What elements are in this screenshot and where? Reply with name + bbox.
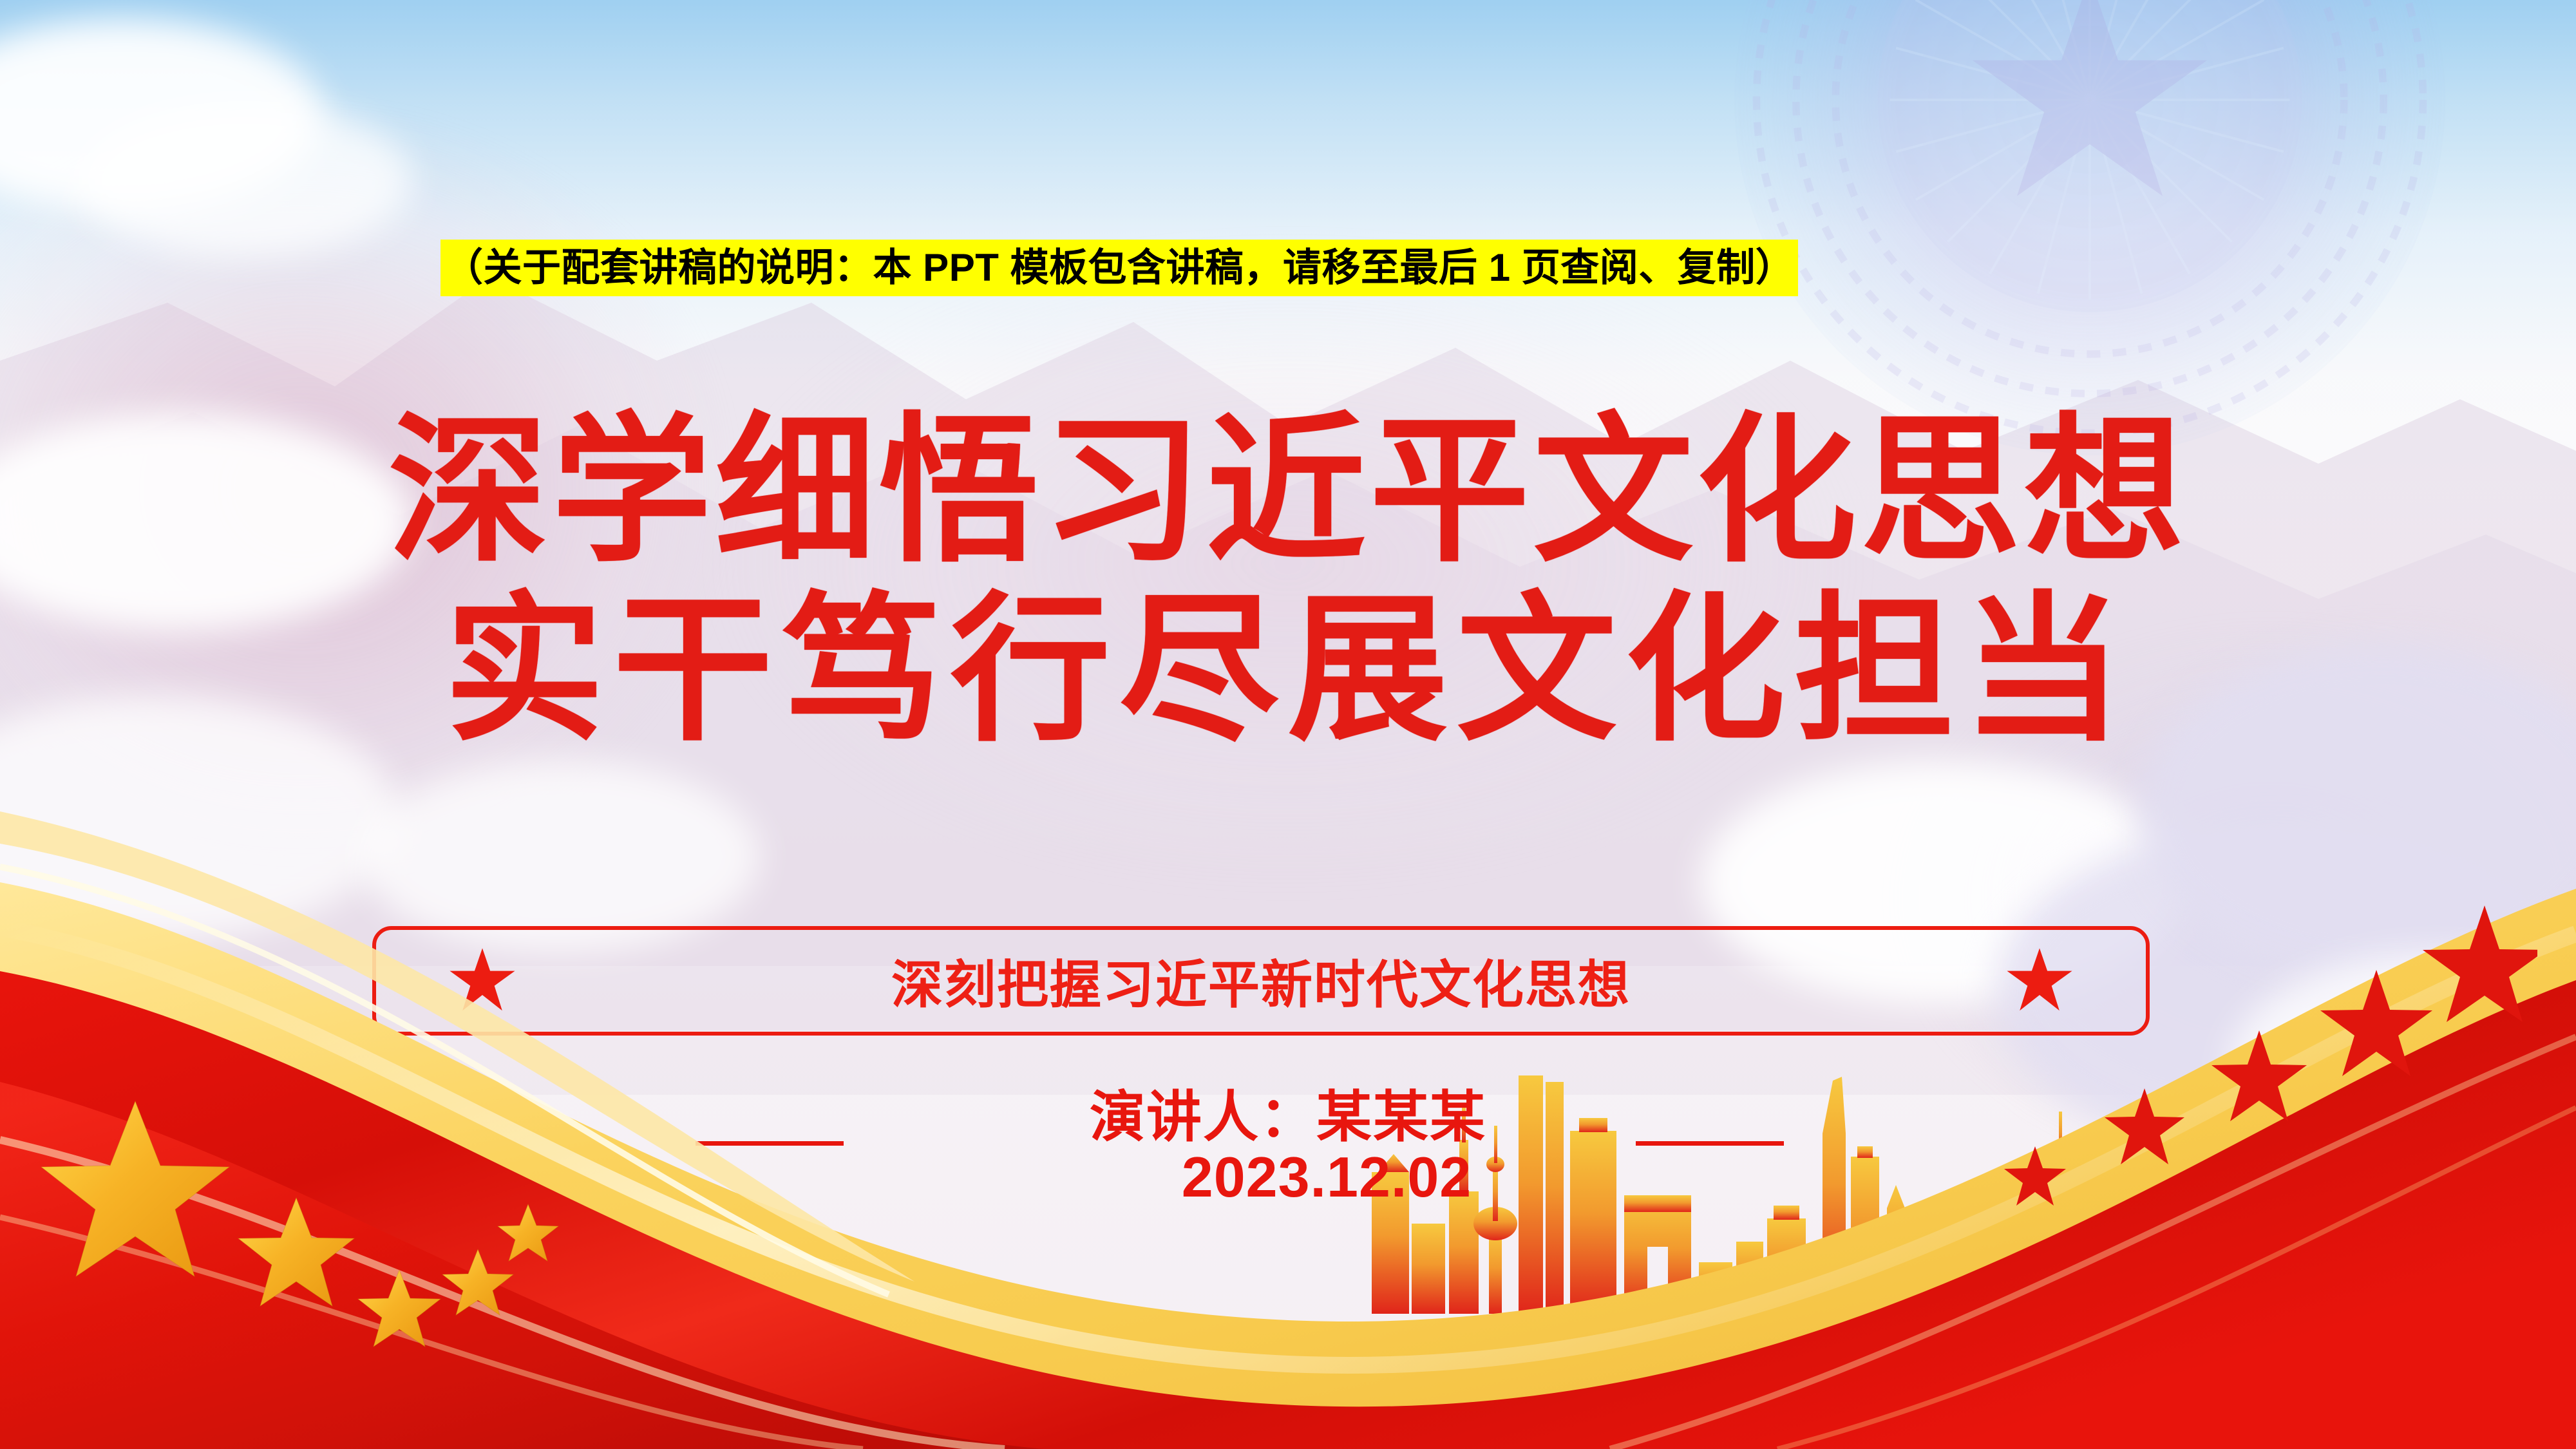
five-red-stars-icon <box>1958 844 2537 1256</box>
main-title: 深学细悟习近平文化思想 实干笃行尽展文化担当 <box>0 402 2576 761</box>
china-flag-stars-icon <box>39 1088 618 1365</box>
title-line-2: 实干笃行尽展文化担当 <box>0 582 2576 761</box>
notice-banner: （关于配套讲稿的说明：本 PPT 模板包含讲稿，请移至最后 1 页查阅、复制） <box>440 240 1798 296</box>
ppt-cover-slide: （关于配套讲稿的说明：本 PPT 模板包含讲稿，请移至最后 1 页查阅、复制） … <box>0 0 2576 1449</box>
cloud-decoration <box>77 103 412 258</box>
title-line-1: 深学细悟习近平文化思想 <box>0 402 2576 582</box>
